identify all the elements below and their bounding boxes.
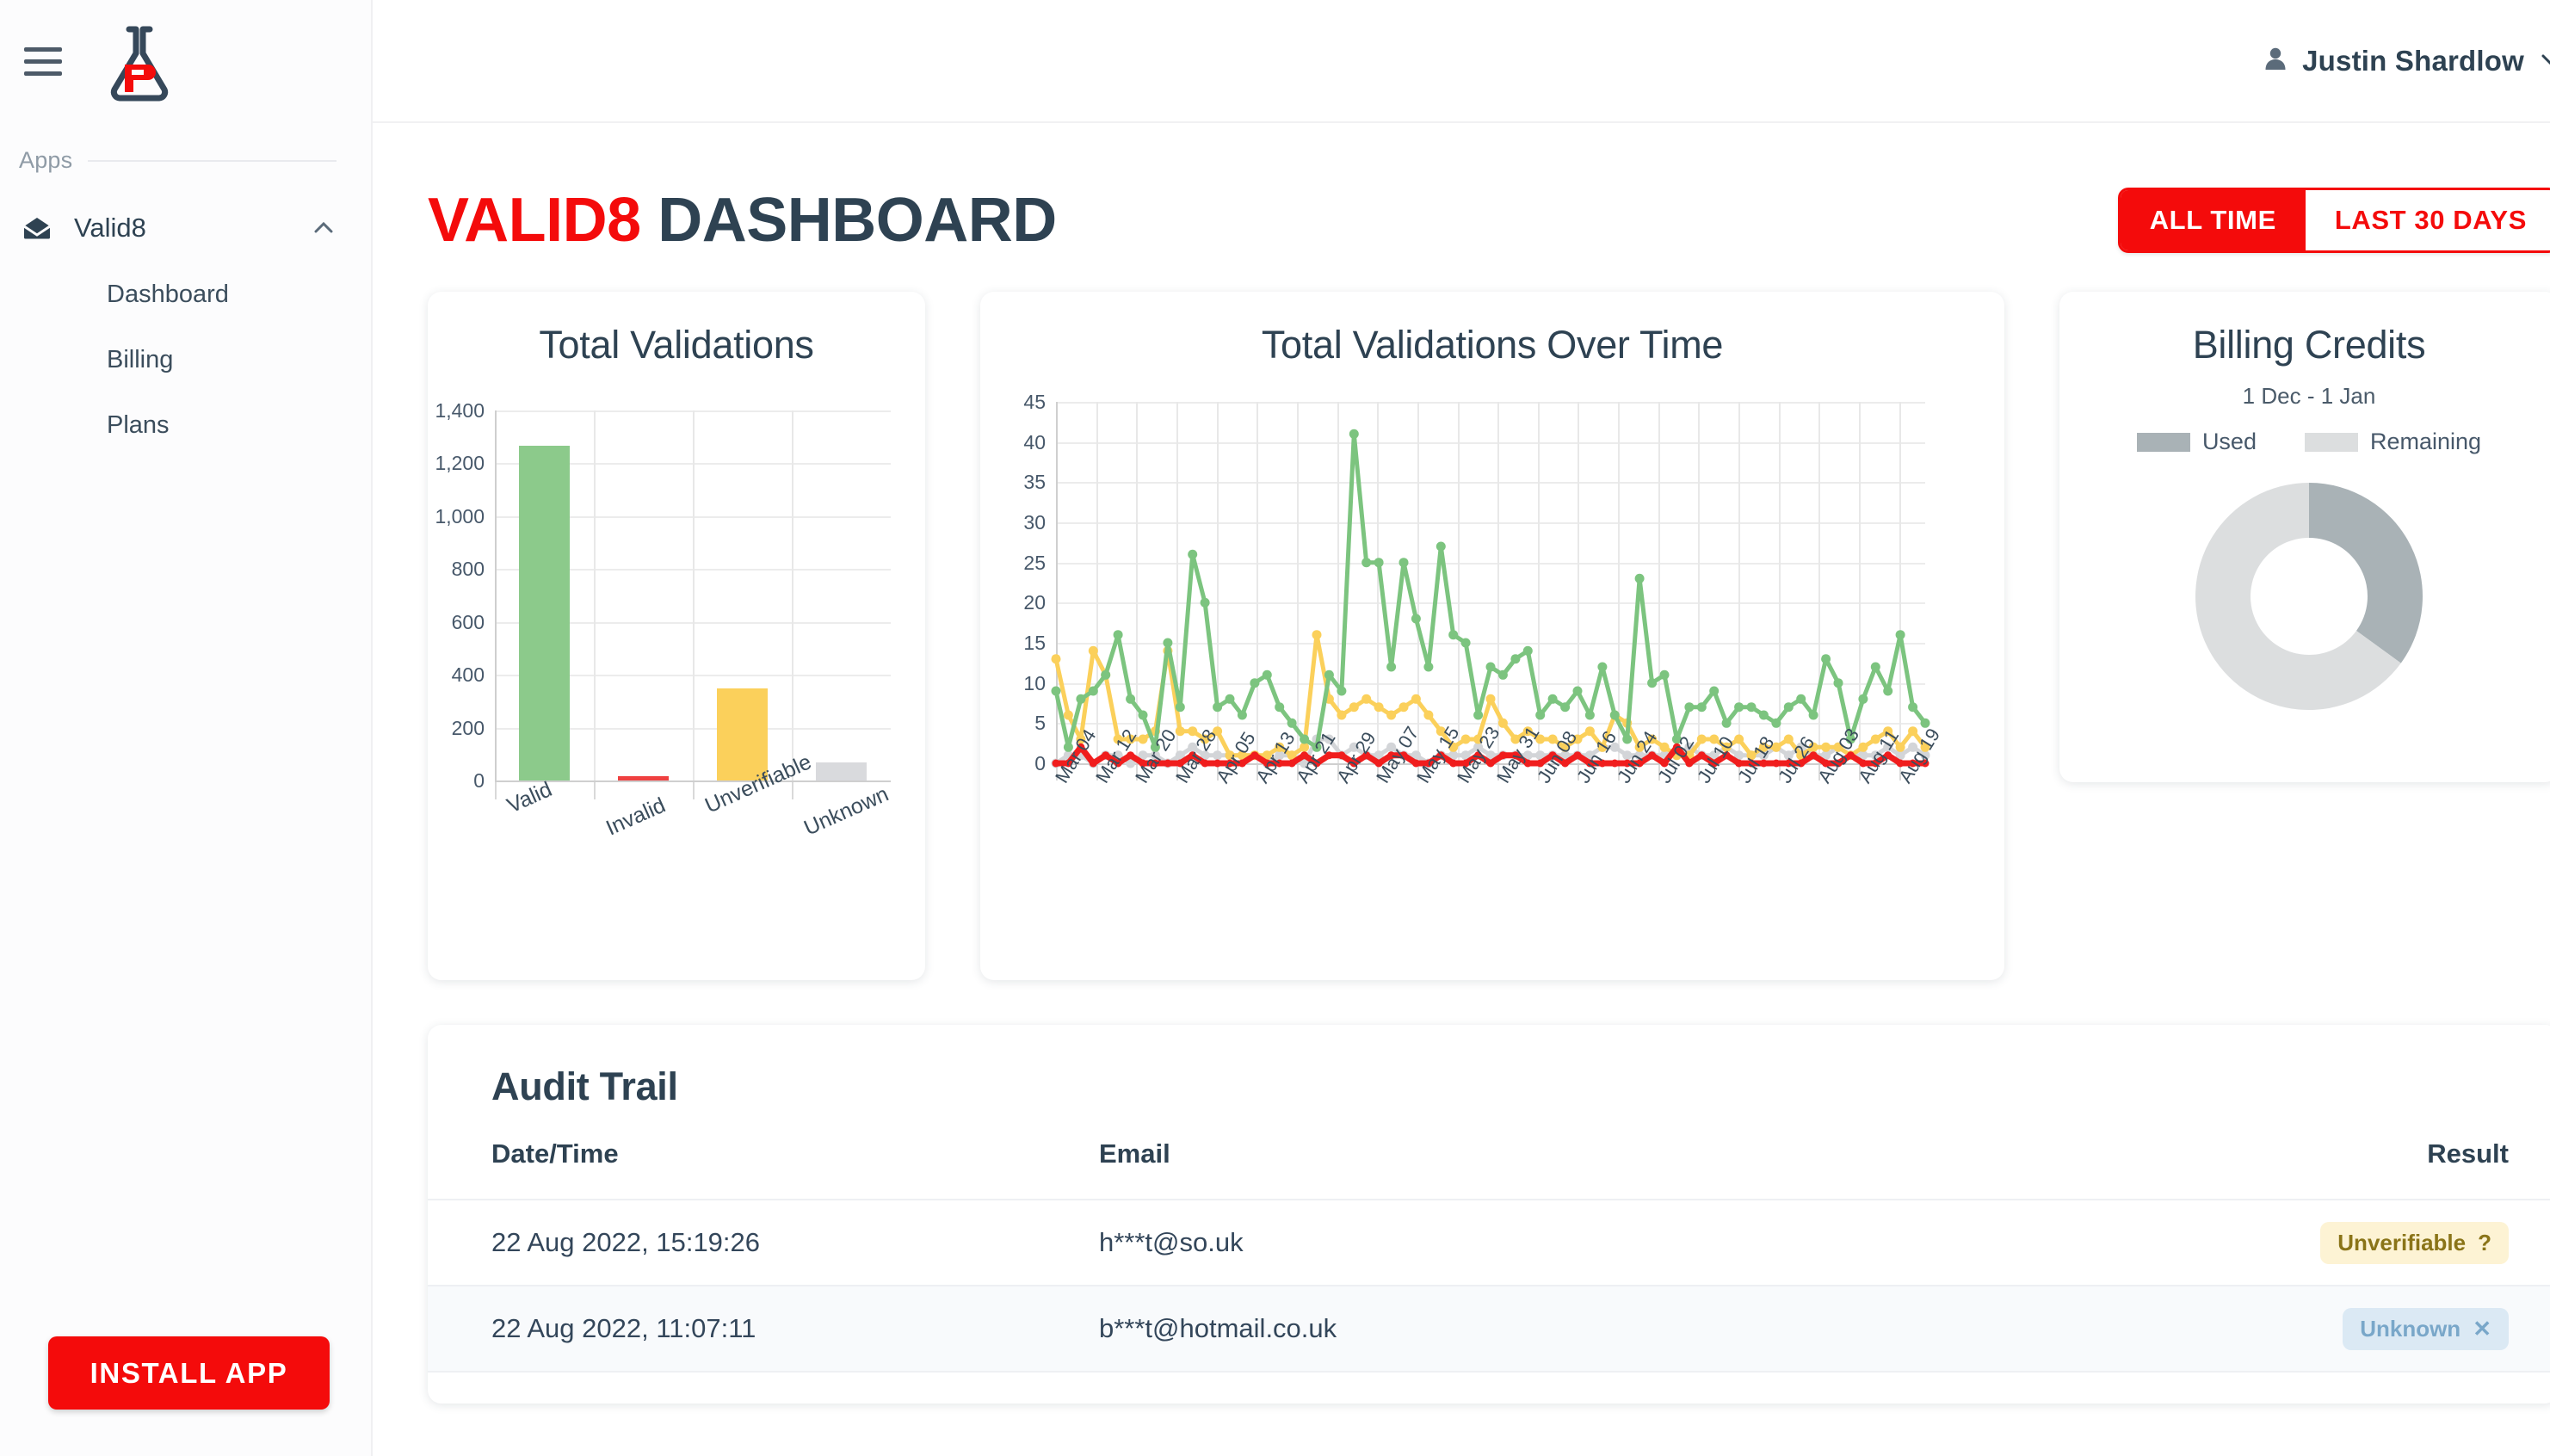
data-point[interactable] (1250, 678, 1259, 688)
data-point[interactable] (1560, 702, 1570, 712)
x-axis-tick-label: Unknown (800, 782, 892, 842)
person-icon (2263, 46, 2288, 76)
data-point[interactable] (1176, 702, 1185, 712)
cell-email: b***t@hotmail.co.uk (1099, 1286, 2132, 1372)
sidebar-item-plans[interactable]: Plans (0, 392, 371, 458)
data-point[interactable] (1449, 760, 1457, 768)
data-point[interactable] (1337, 687, 1346, 696)
range-all-time-button[interactable]: ALL TIME (2121, 190, 2306, 250)
column-header-result[interactable]: Result (2132, 1138, 2550, 1200)
data-point[interactable] (1238, 711, 1247, 720)
data-point[interactable] (1411, 694, 1421, 704)
data-point[interactable] (1436, 542, 1446, 552)
card-title: Billing Credits (2059, 292, 2550, 367)
donut-legend: Used Remaining (2059, 429, 2550, 455)
data-point[interactable] (1386, 711, 1396, 720)
data-point[interactable] (1486, 663, 1496, 672)
data-point[interactable] (1287, 719, 1297, 728)
user-name: Justin Shardlow (2302, 45, 2524, 77)
data-point[interactable] (1896, 630, 1905, 639)
data-point[interactable] (1399, 558, 1409, 567)
y-axis-tick-label: 800 (452, 558, 485, 581)
page-body: VALID8 DASHBOARD ALL TIME LAST 30 DAYS T… (373, 123, 2550, 1404)
data-point[interactable] (1399, 702, 1409, 712)
sidebar-item-label: Valid8 (74, 213, 309, 244)
data-point[interactable] (1361, 694, 1371, 704)
data-point[interactable] (1300, 735, 1309, 744)
open-envelope-icon (22, 217, 59, 239)
data-point[interactable] (1523, 646, 1533, 656)
y-axis-tick-label: 20 (1023, 591, 1046, 614)
donut-chart (2180, 467, 2438, 725)
dashboard-app: Apps Valid8 Dashboard Billing (0, 0, 2550, 1456)
donut-slice-used[interactable] (2309, 483, 2423, 663)
data-point[interactable] (1858, 743, 1868, 752)
data-point[interactable] (1076, 694, 1085, 704)
sidebar: Apps Valid8 Dashboard Billing (0, 0, 373, 1456)
data-point[interactable] (1349, 429, 1359, 439)
main-content: Justin Shardlow VALID8 DASHBOARD ALL TIM… (373, 0, 2550, 1456)
data-point[interactable] (1114, 630, 1123, 639)
data-point[interactable] (1126, 694, 1135, 704)
sidebar-item-dashboard[interactable]: Dashboard (0, 262, 371, 327)
cell-datetime: 22 Aug 2022, 11:07:11 (428, 1286, 1099, 1372)
bar[interactable] (816, 762, 867, 780)
legend-item-remaining[interactable]: Remaining (2305, 429, 2481, 455)
y-axis-tick-label: 400 (452, 663, 485, 687)
data-point[interactable] (1324, 670, 1334, 680)
charts-row: Total Validations 02004006008001,0001,20… (428, 292, 2550, 980)
data-point[interactable] (1647, 678, 1657, 688)
data-point[interactable] (1821, 654, 1831, 663)
page-title: VALID8 DASHBOARD (428, 185, 1057, 256)
table-body: 22 Aug 2022, 15:19:26h***t@so.ukUnverifi… (428, 1200, 2550, 1372)
data-point[interactable] (1597, 663, 1607, 672)
x-axis-tick-label: Invalid (602, 793, 670, 842)
data-point[interactable] (1275, 702, 1284, 712)
sidebar-item-billing[interactable]: Billing (0, 327, 371, 392)
y-axis-tick-label: 15 (1023, 632, 1046, 655)
y-axis-tick-label: 200 (452, 717, 485, 740)
data-point[interactable] (1213, 702, 1222, 712)
data-point[interactable] (1374, 702, 1384, 712)
table-row[interactable]: 22 Aug 2022, 15:19:26h***t@so.ukUnverifi… (428, 1200, 2550, 1286)
card-title: Total Validations (428, 292, 925, 367)
data-point[interactable] (1361, 558, 1371, 567)
y-axis-tick-label: 30 (1023, 511, 1046, 534)
bar-chart: 02004006008001,0001,2001,400 (495, 410, 891, 780)
data-point[interactable] (1834, 678, 1843, 688)
bar[interactable] (519, 446, 571, 780)
data-point[interactable] (1784, 735, 1794, 744)
data-point[interactable] (1337, 711, 1346, 720)
data-point[interactable] (1101, 670, 1110, 680)
y-axis-tick-label: 5 (1034, 712, 1046, 735)
data-point[interactable] (1585, 726, 1595, 736)
data-point[interactable] (1510, 654, 1520, 663)
data-point[interactable] (1535, 711, 1545, 720)
data-point[interactable] (1201, 598, 1210, 608)
sidebar-section-label: Apps (19, 147, 72, 174)
data-point[interactable] (1089, 687, 1098, 696)
y-axis-tick-label: 35 (1023, 471, 1046, 494)
hamburger-menu-icon[interactable] (22, 41, 64, 83)
data-point[interactable] (1722, 719, 1732, 728)
status-badge: Unverifiable? (2320, 1222, 2509, 1264)
status-badge-icon: ? (2478, 1230, 2491, 1256)
data-point[interactable] (1411, 614, 1421, 624)
page-title-accent: VALID8 (428, 186, 641, 255)
data-point[interactable] (1734, 702, 1744, 712)
legend-label: Remaining (2370, 429, 2481, 455)
data-point[interactable] (1486, 694, 1496, 704)
status-badge-icon: ✕ (2473, 1316, 2491, 1342)
data-point[interactable] (1660, 670, 1670, 680)
billing-period: 1 Dec - 1 Jan (2059, 383, 2550, 410)
data-point[interactable] (1697, 702, 1707, 712)
time-range-toggle[interactable]: ALL TIME LAST 30 DAYS (2118, 188, 2550, 253)
data-point[interactable] (1064, 711, 1073, 720)
data-point[interactable] (1288, 760, 1296, 768)
audit-trail-title: Audit Trail (428, 1025, 2550, 1109)
gridline (594, 410, 596, 780)
legend-swatch (2305, 433, 2358, 452)
data-point[interactable] (1448, 630, 1458, 639)
data-point[interactable] (1622, 735, 1632, 744)
status-badge-label: Unknown (2360, 1316, 2460, 1342)
y-axis-tick-label: 600 (452, 611, 485, 634)
data-point[interactable] (1052, 654, 1061, 663)
column-header-datetime[interactable]: Date/Time (428, 1138, 1099, 1200)
chevron-down-icon[interactable] (2538, 46, 2550, 75)
y-axis-tick-label: 10 (1023, 672, 1046, 695)
data-point[interactable] (1809, 711, 1818, 720)
cell-email: h***t@so.uk (1099, 1200, 2132, 1286)
data-point[interactable] (1747, 702, 1757, 712)
data-point[interactable] (1697, 735, 1707, 744)
sidebar-item-valid8[interactable]: Valid8 (0, 194, 371, 262)
data-point[interactable] (1226, 694, 1235, 704)
data-point[interactable] (1684, 702, 1694, 712)
cell-result: Unverifiable? (2132, 1200, 2550, 1286)
divider (88, 160, 337, 162)
data-point[interactable] (1386, 663, 1396, 672)
table-row[interactable]: 22 Aug 2022, 11:07:11b***t@hotmail.co.uk… (428, 1286, 2550, 1372)
status-badge: Unknown✕ (2343, 1308, 2509, 1350)
y-axis-tick-label: 1,400 (435, 399, 485, 423)
data-point[interactable] (1574, 751, 1582, 759)
legend-item-used[interactable]: Used (2137, 429, 2257, 455)
data-point[interactable] (1883, 687, 1892, 696)
card-title: Total Validations Over Time (980, 292, 2004, 367)
data-point[interactable] (1423, 711, 1433, 720)
gridline (792, 410, 793, 780)
y-axis-tick-label: 45 (1023, 391, 1046, 414)
column-header-email[interactable]: Email (1099, 1138, 2132, 1200)
data-point[interactable] (1188, 550, 1197, 559)
data-point[interactable] (1089, 646, 1098, 656)
data-point[interactable] (1908, 726, 1917, 736)
legend-swatch (2137, 433, 2190, 452)
line-x-axis-labels: Mar 04Mar 12Mar 20Mar 28Apr 05Apr 13Apr … (1056, 770, 1942, 916)
y-axis-line (495, 410, 497, 780)
data-point[interactable] (1263, 670, 1272, 680)
cell-datetime: 22 Aug 2022, 15:19:26 (428, 1200, 1099, 1286)
data-point[interactable] (1139, 711, 1148, 720)
table-header-row: Date/Time Email Result (428, 1138, 2550, 1200)
data-point[interactable] (1473, 711, 1483, 720)
line-series-group (1056, 402, 1925, 765)
sidebar-section-apps: Apps (0, 147, 371, 174)
page-title-rest: DASHBOARD (658, 186, 1057, 255)
x-axis-line (495, 780, 891, 782)
data-point[interactable] (1374, 558, 1384, 567)
y-axis-tick-label: 0 (473, 769, 485, 793)
data-point[interactable] (1423, 663, 1433, 672)
status-badge-label: Unverifiable (2337, 1230, 2466, 1256)
sidebar-subitem-label: Dashboard (107, 281, 229, 309)
data-point[interactable] (1213, 750, 1222, 760)
data-point[interactable] (1573, 687, 1583, 696)
total-validations-card: Total Validations 02004006008001,0001,20… (428, 292, 925, 980)
sidebar-header (0, 0, 371, 123)
flask-logo-icon[interactable] (103, 22, 176, 102)
data-point[interactable] (1585, 711, 1595, 720)
data-point[interactable] (1461, 639, 1471, 648)
data-point[interactable] (1052, 687, 1061, 696)
data-point[interactable] (1548, 694, 1558, 704)
line-chart: 051015202530354045 (1056, 402, 1925, 763)
bar[interactable] (717, 688, 769, 780)
install-app-button[interactable]: INSTALL APP (48, 1336, 330, 1410)
topbar: Justin Shardlow (373, 0, 2550, 123)
data-point[interactable] (1498, 719, 1508, 728)
validations-over-time-card: Total Validations Over Time 051015202530… (980, 292, 2004, 980)
user-menu[interactable]: Justin Shardlow (2263, 45, 2550, 77)
data-point[interactable] (1163, 639, 1172, 648)
gridline (693, 410, 695, 780)
range-last-30-days-button[interactable]: LAST 30 DAYS (2306, 190, 2550, 250)
legend-label: Used (2202, 429, 2257, 455)
bar-x-axis-labels: ValidInvalidUnverifiableUnknown (495, 789, 899, 892)
data-point[interactable] (1908, 702, 1917, 712)
x-axis-tick-label: Valid (503, 777, 556, 818)
title-row: VALID8 DASHBOARD ALL TIME LAST 30 DAYS (428, 123, 2550, 261)
data-point[interactable] (1312, 630, 1322, 639)
data-point[interactable] (1759, 711, 1769, 720)
data-point[interactable] (1610, 711, 1620, 720)
data-point[interactable] (1498, 670, 1508, 680)
chevron-up-icon[interactable] (309, 213, 338, 243)
cell-result: Unknown✕ (2132, 1286, 2550, 1372)
y-axis-tick-label: 40 (1023, 431, 1046, 454)
data-point[interactable] (1771, 719, 1781, 728)
y-axis-tick-label: 1,200 (435, 452, 485, 475)
data-point[interactable] (1796, 694, 1806, 704)
data-point[interactable] (1349, 702, 1359, 712)
sidebar-subitem-label: Plans (107, 411, 170, 440)
y-axis-tick-label: 1,000 (435, 505, 485, 528)
data-point[interactable] (1871, 663, 1880, 672)
data-point[interactable] (1635, 574, 1645, 583)
audit-trail-table: Date/Time Email Result 22 Aug 2022, 15:1… (428, 1138, 2550, 1373)
y-axis-tick-label: 25 (1023, 552, 1046, 575)
y-axis-tick-label: 0 (1034, 752, 1046, 775)
table-head: Date/Time Email Result (428, 1138, 2550, 1200)
data-point[interactable] (1858, 694, 1868, 704)
sidebar-subitem-label: Billing (107, 346, 173, 374)
billing-credits-card: Billing Credits 1 Dec - 1 Jan Used Remai… (2059, 292, 2550, 782)
audit-trail-card: Audit Trail Date/Time Email Result 22 Au… (428, 1025, 2550, 1404)
data-point[interactable] (1709, 687, 1719, 696)
data-point[interactable] (1784, 702, 1794, 712)
